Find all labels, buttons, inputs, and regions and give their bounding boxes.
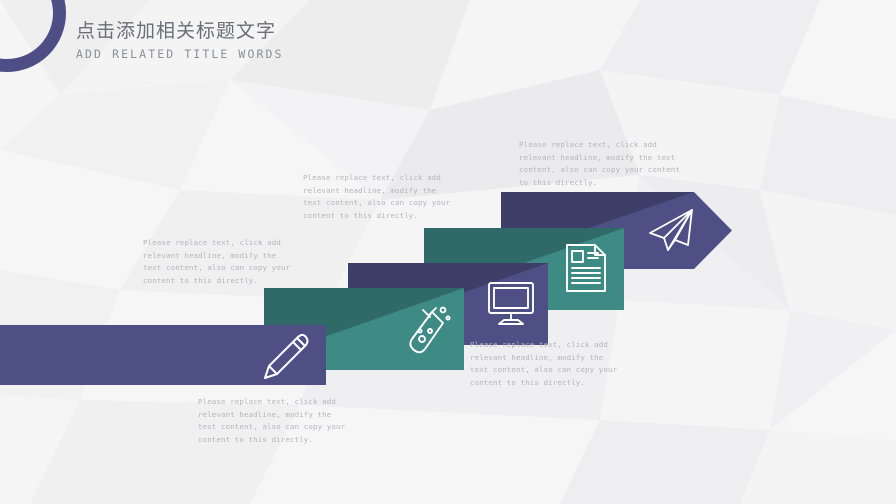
title-chinese: 点击添加相关标题文字 (76, 20, 284, 44)
step-caption-4: Please replace text, click add relevant … (303, 172, 458, 223)
step-band-1[interactable] (0, 325, 326, 385)
slide-canvas: 点击添加相关标题文字 ADD RELATED TITLE WORDS (0, 0, 896, 504)
step-caption-5: Please replace text, click add relevant … (519, 139, 684, 190)
step-caption-3: Please replace text, click add relevant … (143, 237, 295, 288)
page-title: 点击添加相关标题文字 ADD RELATED TITLE WORDS (76, 20, 284, 61)
title-english: ADD RELATED TITLE WORDS (76, 47, 284, 61)
step-caption-1: Please replace text, click add relevant … (198, 396, 350, 447)
step-caption-2: Please replace text, click add relevant … (470, 339, 625, 390)
